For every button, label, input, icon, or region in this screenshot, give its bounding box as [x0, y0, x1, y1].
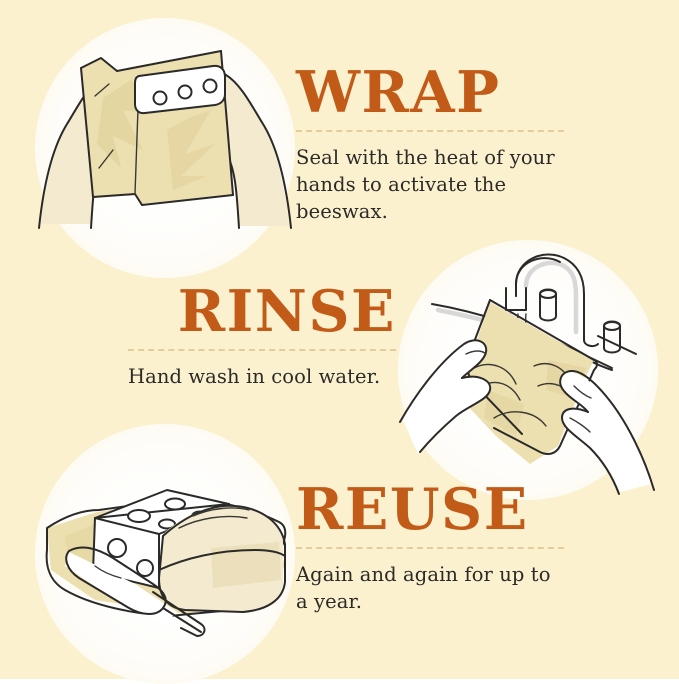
- step-rinse-description: Hand wash in cool water.: [128, 363, 396, 390]
- step-wrap-title: WRAP: [296, 63, 564, 123]
- wrap-line-art: [35, 18, 295, 278]
- step-reuse-divider: [296, 547, 564, 549]
- cheese-butter-and-knife-on-wrap-illustration: [35, 424, 295, 684]
- reuse-line-art: [35, 424, 295, 684]
- hands-wrapping-cheese-illustration: [35, 18, 295, 278]
- step-wrap-text: WRAP Seal with the heat of your hands to…: [296, 63, 564, 225]
- step-rinse-title: RINSE: [128, 282, 396, 342]
- step-reuse-title: REUSE: [296, 480, 564, 540]
- rinse-line-art: [398, 240, 658, 500]
- step-rinse-text: RINSE Hand wash in cool water.: [128, 282, 396, 390]
- care-instructions-infographic: WRAP Seal with the heat of your hands to…: [0, 0, 679, 679]
- step-reuse-description: Again and again for up to a year.: [296, 561, 564, 615]
- step-rinse-divider: [128, 349, 396, 351]
- step-wrap-description: Seal with the heat of your hands to acti…: [296, 144, 564, 225]
- step-wrap-divider: [296, 130, 564, 132]
- step-reuse-text: REUSE Again and again for up to a year.: [296, 480, 564, 615]
- hands-rinsing-wrap-under-faucet-illustration: [398, 240, 658, 500]
